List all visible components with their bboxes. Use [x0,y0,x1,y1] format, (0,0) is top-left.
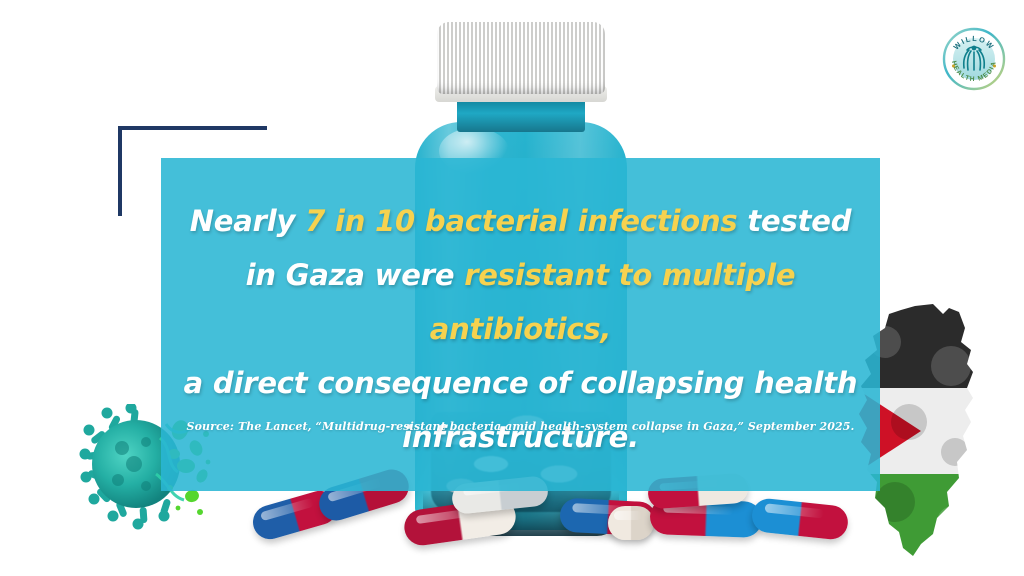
headline-line-2: in Gaza were resistant to multiple antib… [246,258,796,346]
willow-health-media-logo[interactable]: WILLOW HEALTH MEDIA [941,26,1007,92]
content-panel: Nearly 7 in 10 bacterial infections test… [161,158,880,491]
capsule-white [608,506,654,540]
pill-bottle-neck [457,98,585,132]
headline-plain-c: in Gaza were [246,258,465,292]
logo-icon: WILLOW HEALTH MEDIA [941,26,1007,92]
headline-plain-a: Nearly [190,204,305,238]
source-citation: Source: The Lancet, “Multidrug-resistant… [161,420,880,433]
headline-line-1: Nearly 7 in 10 bacterial infections test… [190,204,852,238]
headline-highlight-1: 7 in 10 bacterial infections [305,204,737,238]
capsule-blue-red [750,497,849,541]
infographic-canvas: Nearly 7 in 10 bacterial infections test… [0,0,1024,576]
headline-highlight-2: resistant to multiple antibiotics, [430,258,796,346]
headline-line-3: a direct consequence of collapsing healt… [184,366,858,400]
pill-bottle-cap [437,22,605,94]
headline-plain-b: tested [737,204,851,238]
